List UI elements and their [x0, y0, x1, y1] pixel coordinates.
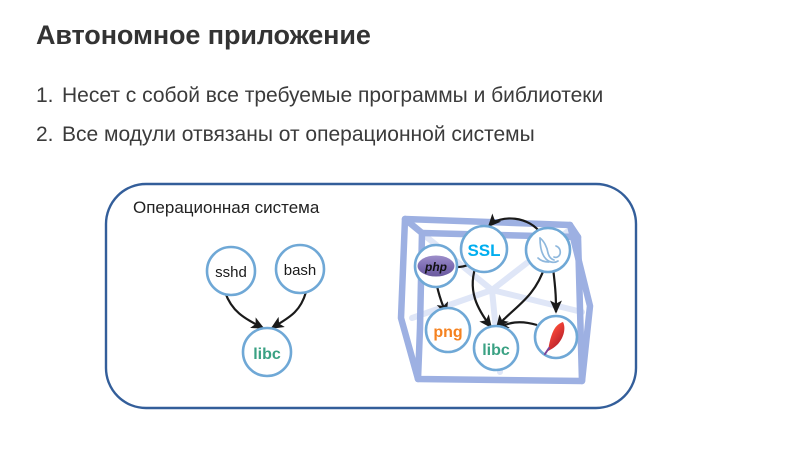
container-node-ssl: SSL [461, 226, 507, 272]
node-circle [526, 228, 570, 272]
mysql-dolphin-icon [538, 238, 560, 262]
container-box [401, 219, 590, 381]
arrow-ssl-to-libc [473, 263, 491, 327]
arrow-apache-to-libc [497, 322, 537, 329]
container-box-edges [401, 219, 590, 381]
list-item-number: 1. [36, 84, 62, 108]
container-node-png: png [426, 308, 470, 352]
arrow-sshd-to-libc [225, 292, 263, 328]
container-node-mysql [526, 228, 570, 272]
container-node-libc: libc [474, 326, 518, 370]
bullet-list: 1. Несет с собой все требуемые программы… [36, 84, 756, 162]
list-item: 1. Несет с собой все требуемые программы… [36, 84, 756, 108]
node-label-libc: libc [253, 346, 281, 363]
apache-feather-icon [545, 322, 564, 354]
arrow-php-to-png [437, 286, 446, 314]
container-node-php: php [415, 245, 457, 287]
host-node-bash: bash [276, 245, 324, 293]
node-circle [426, 308, 470, 352]
list-item: 2. Все модули отвязаны от операционной с… [36, 123, 756, 147]
list-item-number: 2. [36, 123, 62, 147]
node-circle [535, 316, 577, 358]
node-label-bash: bash [284, 262, 317, 279]
node-label-php: php [424, 260, 447, 274]
architecture-diagram: sshd bash libc php S [0, 0, 800, 449]
node-label-png: png [433, 324, 462, 341]
container-dependency-arrows [437, 218, 556, 329]
slide-root: Автономное приложение 1. Несет с собой в… [0, 0, 800, 449]
arrow-mysql-to-ssl [489, 218, 541, 234]
host-dependency-arrows [225, 292, 306, 328]
list-item-label: Несет с собой все требуемые программы и … [62, 84, 603, 108]
node-label-sshd: sshd [215, 264, 247, 281]
arrow-bash-to-libc [272, 292, 306, 328]
list-item-label: Все модули отвязаны от операционной сист… [62, 123, 535, 147]
arrow-php-to-ssl [452, 256, 476, 267]
arrow-mysql-to-libc [497, 266, 545, 327]
php-logo-icon: php [418, 256, 455, 277]
arrow-mysql-to-apache [553, 268, 556, 312]
node-label-ssl: SSL [467, 241, 500, 260]
host-node-sshd: sshd [207, 247, 255, 295]
os-panel-label: Операционная система [133, 198, 319, 218]
node-circle [461, 226, 507, 272]
host-node-libc: libc [243, 328, 291, 376]
node-circle [207, 247, 255, 295]
node-label-libc: libc [482, 342, 510, 359]
node-circle [474, 326, 518, 370]
container-box-fold-lines [408, 222, 582, 372]
page-title: Автономное приложение [36, 20, 371, 51]
node-circle [276, 245, 324, 293]
container-node-apache [535, 316, 577, 358]
node-circle [243, 328, 291, 376]
node-circle [415, 245, 457, 287]
